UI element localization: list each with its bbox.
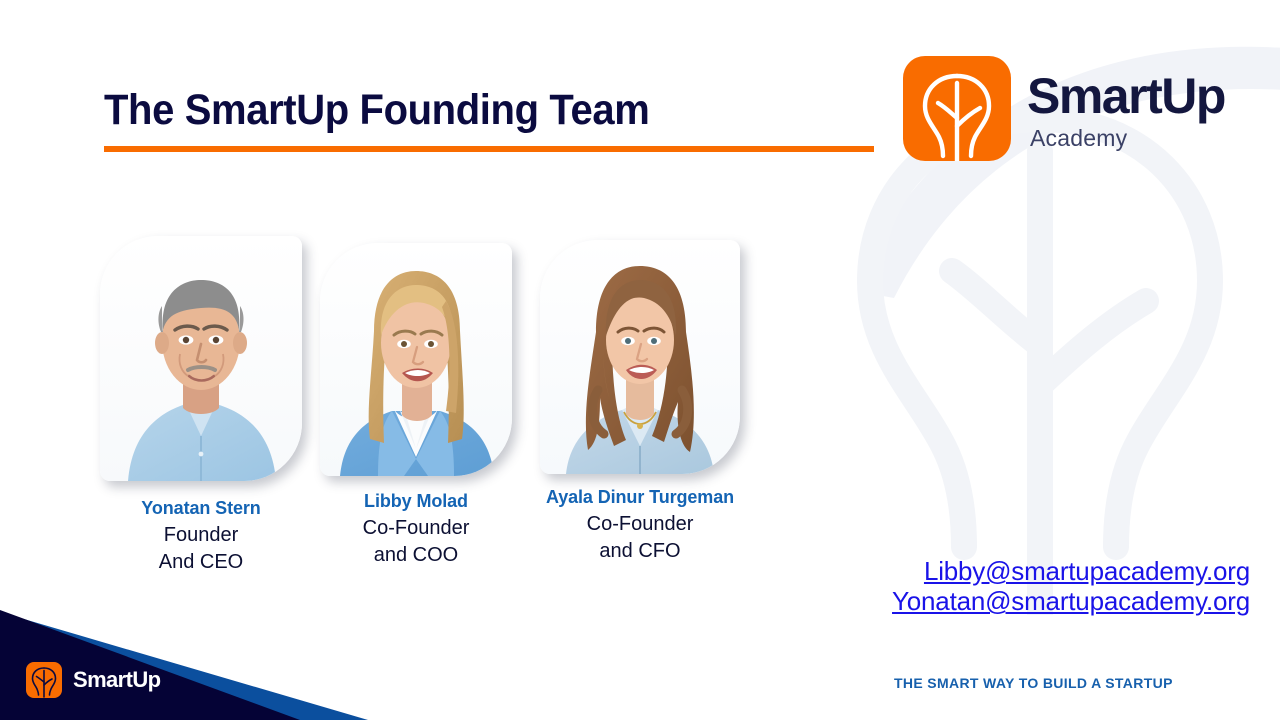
team-member-role-line1: Co-Founder — [303, 516, 529, 540]
team-member-name: Libby Molad — [303, 491, 529, 513]
team-member-card[interactable]: Yonatan Stern Founder And CEO — [100, 236, 302, 481]
footer-brand-lockup: SmartUp — [26, 662, 161, 698]
footer-brand-name: SmartUp — [73, 667, 161, 693]
tree-lightbulb-icon — [26, 662, 62, 698]
email-link-yonatan[interactable]: Yonatan@smartupacademy.org — [892, 586, 1250, 616]
contact-links: Libby@smartupacademy.org Yonatan@smartup… — [892, 556, 1250, 616]
corner-decoration — [0, 590, 420, 720]
title-underline-rule — [104, 146, 874, 152]
team-member-role-line2: and CFO — [527, 539, 753, 563]
team-member-name: Ayala Dinur Turgeman — [527, 487, 753, 509]
team-member-caption: Ayala Dinur Turgeman Co-Founder and CFO — [527, 487, 753, 564]
team-member-card[interactable]: Libby Molad Co-Founder and COO — [320, 243, 512, 476]
portrait-yonatan-stern — [100, 236, 302, 481]
team-member-role-line1: Founder — [88, 523, 314, 547]
background-tree-watermark — [790, 95, 1280, 615]
brand-name: SmartUp — [1027, 71, 1225, 121]
tagline: THE SMART WAY TO BUILD A STARTUP — [894, 675, 1173, 691]
page-title: The SmartUp Founding Team — [104, 86, 649, 135]
portrait-libby-molad — [320, 243, 512, 476]
team-member-caption: Libby Molad Co-Founder and COO — [303, 491, 529, 568]
brand-subtitle: Academy — [1030, 127, 1225, 150]
team-member-card[interactable]: Ayala Dinur Turgeman Co-Founder and CFO — [540, 240, 740, 474]
team-member-role-line2: and COO — [303, 543, 529, 567]
team-member-role-line1: Co-Founder — [527, 512, 753, 536]
team-member-role-line2: And CEO — [88, 550, 314, 574]
team-member-caption: Yonatan Stern Founder And CEO — [88, 498, 314, 575]
email-link-libby[interactable]: Libby@smartupacademy.org — [892, 556, 1250, 586]
team-member-name: Yonatan Stern — [88, 498, 314, 520]
brand-lockup: SmartUp Academy — [903, 56, 1225, 161]
slide-canvas: The SmartUp Founding Team SmartUp Academ… — [0, 0, 1280, 720]
tree-lightbulb-icon — [903, 56, 1011, 161]
portrait-ayala-dinur-turgeman — [540, 240, 740, 474]
